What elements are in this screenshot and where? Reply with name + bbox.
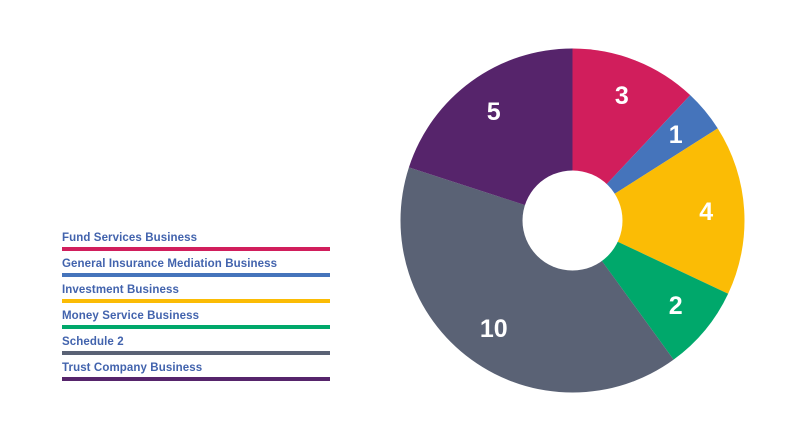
legend-item-label: General Insurance Mediation Business (62, 257, 332, 272)
chart-page: Fund Services BusinessGeneral Insurance … (0, 0, 797, 442)
legend-item-label: Trust Company Business (62, 361, 332, 376)
legend-item-label: Investment Business (62, 283, 332, 298)
legend-item-label: Schedule 2 (62, 335, 332, 350)
legend-item-color-swatch (62, 273, 330, 277)
chart-legend: Fund Services BusinessGeneral Insurance … (62, 231, 332, 387)
legend-item[interactable]: Investment Business (62, 283, 332, 303)
donut-slice-value-label: 3 (615, 82, 629, 110)
legend-item[interactable]: Schedule 2 (62, 335, 332, 355)
legend-item[interactable]: Trust Company Business (62, 361, 332, 381)
legend-item[interactable]: Money Service Business (62, 309, 332, 329)
legend-item-color-swatch (62, 377, 330, 381)
donut-slice-value-label: 2 (669, 292, 683, 320)
donut-chart-svg: 3142105 (400, 48, 745, 393)
legend-item-color-swatch (62, 351, 330, 355)
legend-item-label: Money Service Business (62, 309, 332, 324)
legend-item-color-swatch (62, 247, 330, 251)
donut-slice-value-label: 4 (699, 198, 713, 226)
donut-slice-value-label: 1 (669, 121, 683, 149)
legend-item-color-swatch (62, 299, 330, 303)
donut-chart: 3142105 (400, 48, 745, 393)
legend-item[interactable]: General Insurance Mediation Business (62, 257, 332, 277)
legend-item-color-swatch (62, 325, 330, 329)
donut-center-hole (523, 171, 623, 271)
legend-item-label: Fund Services Business (62, 231, 332, 246)
legend-item[interactable]: Fund Services Business (62, 231, 332, 251)
donut-slice-value-label: 10 (480, 315, 508, 343)
donut-slice-value-label: 5 (487, 98, 501, 126)
